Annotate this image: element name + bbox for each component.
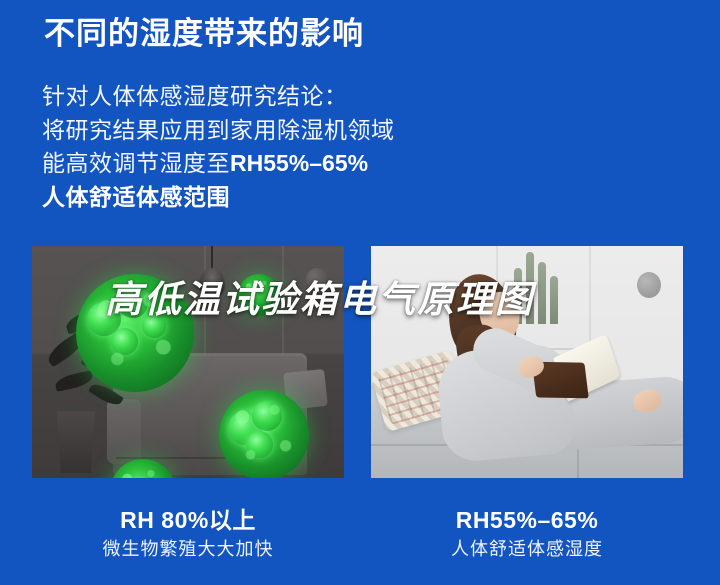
photo-high-humidity xyxy=(32,246,344,478)
body-line-3-emphasis: RH55%–65% xyxy=(230,150,368,176)
dark-room-scene xyxy=(32,246,344,478)
pendant-lamp-icon xyxy=(199,268,225,298)
body-line-4: 人体舒适体感范围 xyxy=(42,181,482,215)
microbe-cell-icon xyxy=(142,314,166,338)
wall-speaker-icon xyxy=(306,268,328,290)
page-title: 不同的湿度带来的影响 xyxy=(44,14,364,54)
caption-subtitle: 微生物繁殖大大加快 xyxy=(32,536,344,563)
bright-room-scene xyxy=(371,246,683,478)
microbe-cell-icon xyxy=(118,288,148,318)
caption-title: RH 80%以上 xyxy=(32,505,344,536)
body-line-1: 针对人体体感湿度研究结论： xyxy=(42,80,482,114)
reading-woman xyxy=(371,246,683,478)
microbe-cell-icon xyxy=(252,401,282,431)
microbe-cluster-icon xyxy=(110,459,176,478)
body-line-3: 能高效调节湿度至RH55%–65% xyxy=(42,147,482,181)
caption-title: RH55%–65% xyxy=(371,505,683,536)
microbe-cluster-icon xyxy=(219,390,309,478)
microbe-cluster-icon xyxy=(238,274,280,316)
body-line-2: 将研究结果应用到家用除湿机领域 xyxy=(42,114,482,148)
infographic-page: 不同的湿度带来的影响 针对人体体感湿度研究结论： 将研究结果应用到家用除湿机领域… xyxy=(0,0,720,585)
microbe-cell-icon xyxy=(87,302,121,336)
caption-comfort-humidity: RH55%–65% 人体舒适体感湿度 xyxy=(371,505,683,563)
caption-subtitle: 人体舒适体感湿度 xyxy=(371,536,683,563)
microbe-cluster-icon xyxy=(76,274,194,392)
microbe-cell-icon xyxy=(246,431,273,458)
body-line-3-prefix: 能高效调节湿度至 xyxy=(42,150,230,176)
photo-comfort-humidity xyxy=(371,246,683,478)
caption-high-humidity: RH 80%以上 微生物繁殖大大加快 xyxy=(32,505,344,563)
body-copy: 针对人体体感湿度研究结论： 将研究结果应用到家用除湿机领域 能高效调节湿度至RH… xyxy=(42,80,482,214)
microbe-cell-icon xyxy=(228,411,262,445)
wall-seam-icon xyxy=(282,246,284,353)
microbe-cell-icon xyxy=(111,328,138,355)
